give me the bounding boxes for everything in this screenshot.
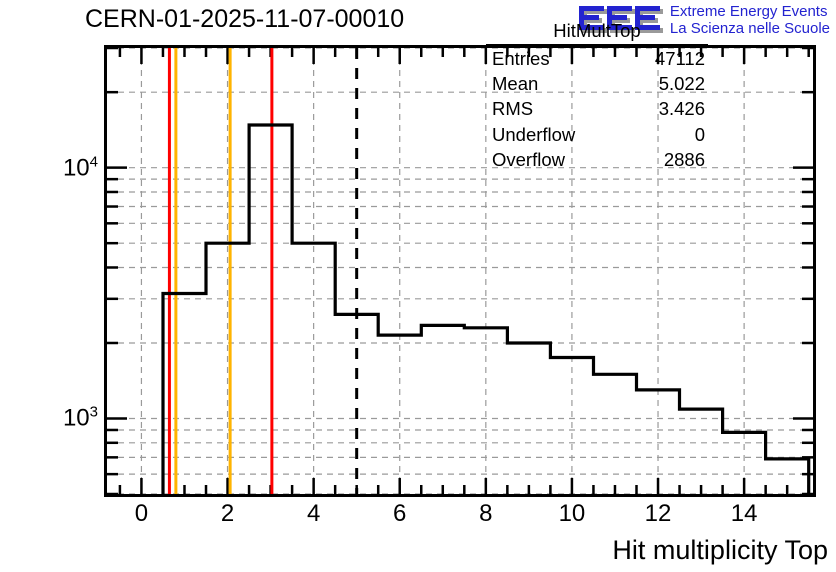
stats-row: Entries47112 xyxy=(486,46,708,71)
x-axis-tick-label: 12 xyxy=(645,500,672,528)
x-axis-tick-label: 10 xyxy=(559,500,586,528)
stats-row-value: 0 xyxy=(695,122,705,147)
stats-rows: Entries47112Mean5.022RMS3.426Underflow0O… xyxy=(486,46,708,172)
y-axis-label-1e3: 103 xyxy=(63,404,98,433)
cut-lines xyxy=(169,48,356,494)
stats-row-label: Underflow xyxy=(492,122,575,147)
x-axis-tick-label: 0 xyxy=(135,500,148,528)
stats-row-value: 3.426 xyxy=(659,96,705,121)
stats-row: RMS3.426 xyxy=(486,96,708,121)
stats-row-label: RMS xyxy=(492,96,533,121)
histogram-page: CERN-01-2025-11-07-00010 Extreme Energy … xyxy=(0,0,836,572)
page-title: CERN-01-2025-11-07-00010 xyxy=(85,5,404,34)
stats-row-label: Entries xyxy=(492,46,550,71)
x-axis-tick-label: 8 xyxy=(479,500,492,528)
stats-row: Underflow0 xyxy=(486,122,708,147)
stats-title: HitMultTop xyxy=(486,18,708,46)
stats-row-value: 5.022 xyxy=(659,71,705,96)
stats-box: HitMultTop Entries47112Mean5.022RMS3.426… xyxy=(486,18,708,172)
x-axis-tick-label: 4 xyxy=(307,500,320,528)
x-axis-tick-label: 2 xyxy=(221,500,234,528)
x-axis-title: Hit multiplicity Top xyxy=(612,535,828,566)
plot-frame: 104 103 02468101214 xyxy=(104,45,816,497)
y-axis-label-1e4: 104 xyxy=(63,153,98,182)
x-axis-tick-label: 14 xyxy=(731,500,758,528)
stats-row: Mean5.022 xyxy=(486,71,708,96)
stats-row-label: Overflow xyxy=(492,147,565,172)
stats-row-label: Mean xyxy=(492,71,538,96)
stats-row-value: 47112 xyxy=(655,46,705,71)
stats-row-value: 2886 xyxy=(664,147,705,172)
stats-row: Overflow2886 xyxy=(486,147,708,172)
x-axis-tick-label: 6 xyxy=(393,500,406,528)
